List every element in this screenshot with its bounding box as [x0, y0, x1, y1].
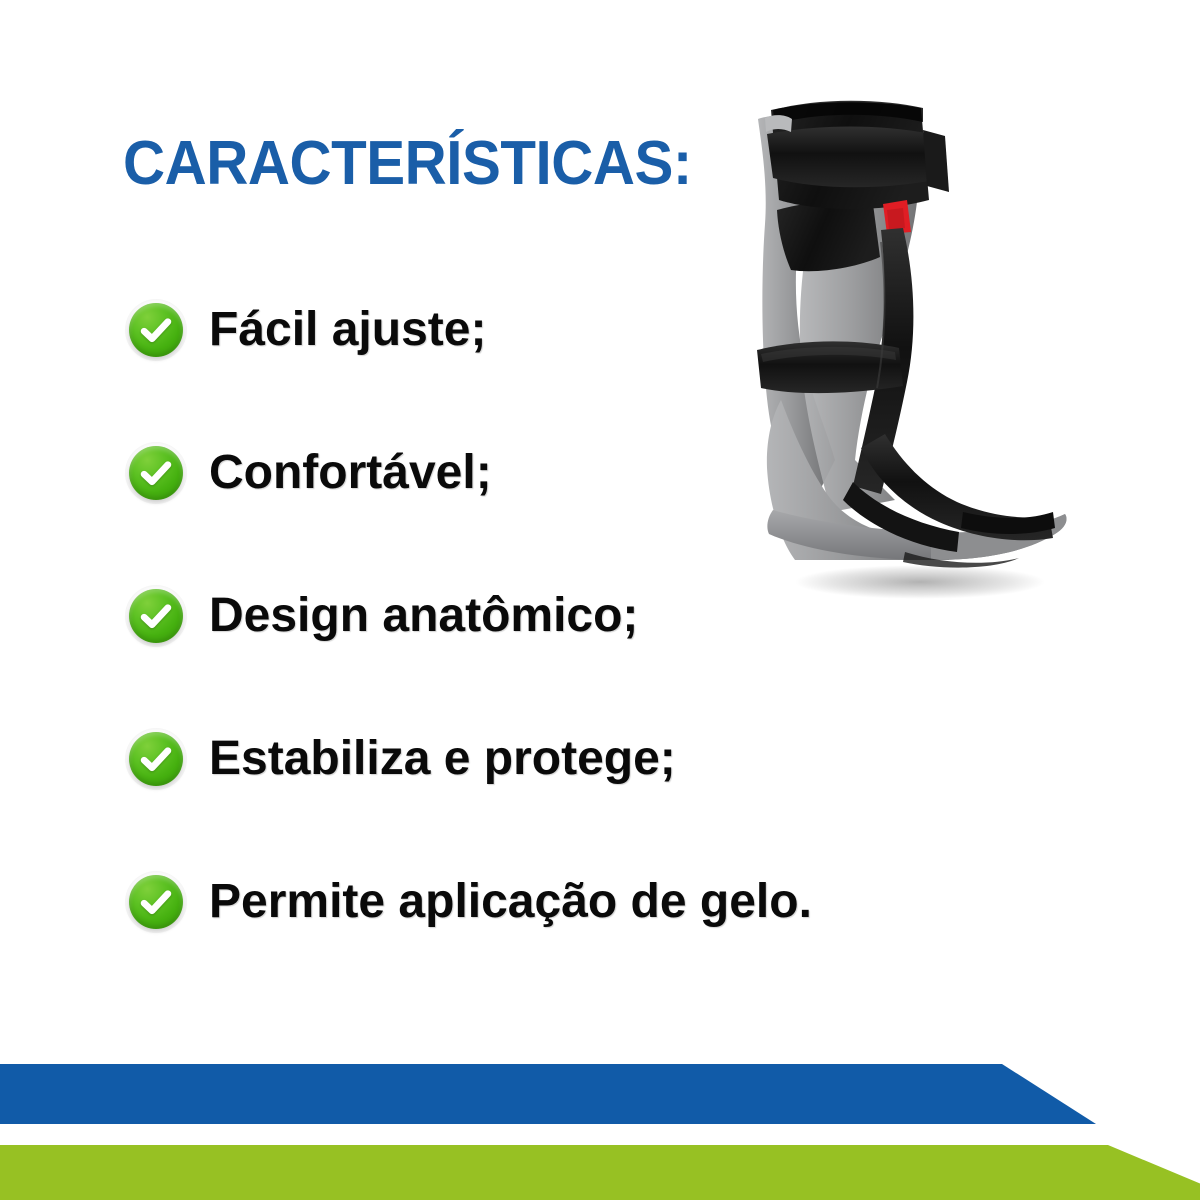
list-item-label: Estabiliza e protege;: [209, 735, 676, 783]
page-title: CARACTERÍSTICAS:: [123, 131, 692, 196]
list-item-label: Design anatômico;: [209, 592, 638, 640]
ankle-foot-orthosis-photo: [735, 82, 1085, 622]
list-item-label: Fácil ajuste;: [209, 306, 486, 354]
list-item: Permite aplicação de gelo.: [125, 864, 1025, 940]
green-check-circle-icon: [125, 728, 187, 790]
footer-green-band: [0, 1145, 1200, 1200]
green-check-circle-icon: [125, 585, 187, 647]
green-check-circle-icon: [125, 442, 187, 504]
green-check-circle-icon: [125, 871, 187, 933]
footer-blue-band: [0, 1064, 1200, 1124]
list-item: Estabiliza e protege;: [125, 721, 1025, 797]
list-item-label: Permite aplicação de gelo.: [209, 878, 812, 926]
poster-canvas: CARACTERÍSTICAS: Fácil ajuste; Confortáv…: [0, 0, 1200, 1200]
list-item-label: Confortável;: [209, 449, 492, 497]
green-check-circle-icon: [125, 299, 187, 361]
